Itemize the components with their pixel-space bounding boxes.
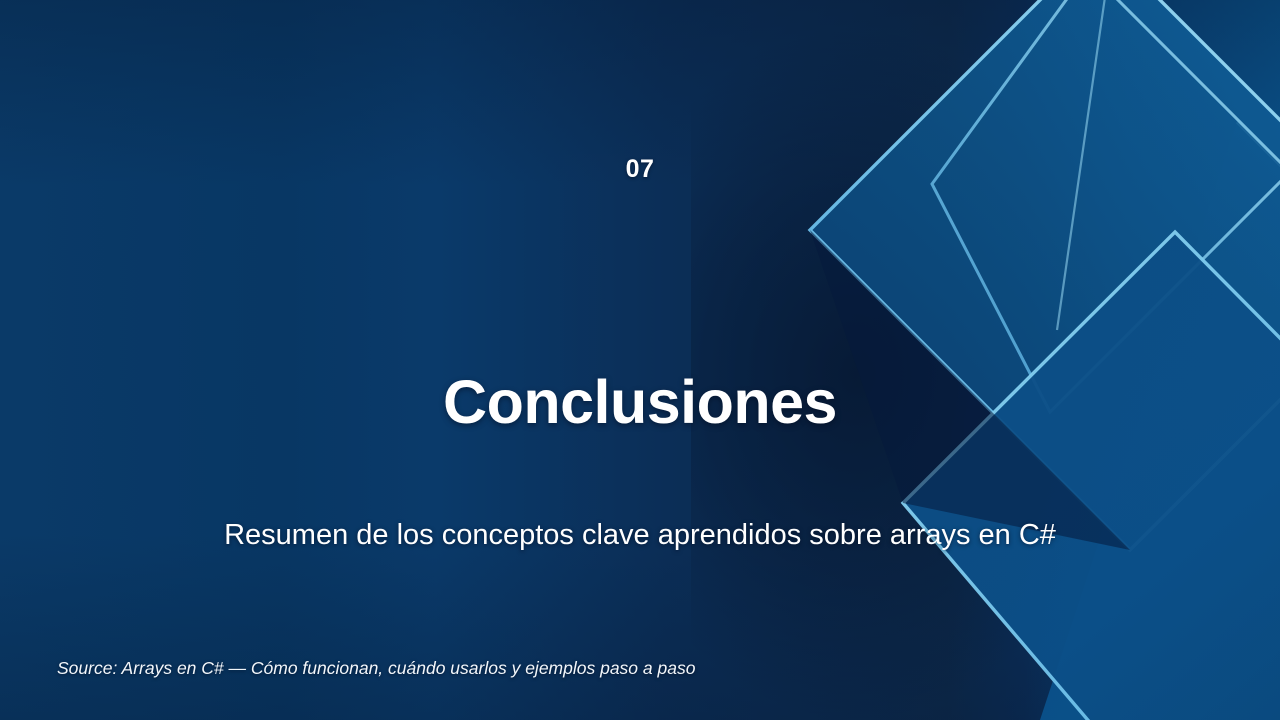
- slide-subtitle: Resumen de los conceptos clave aprendido…: [190, 516, 1090, 555]
- source-attribution: Source: Arrays en C# — Cómo funcionan, c…: [57, 658, 695, 679]
- section-number: 07: [0, 155, 1280, 184]
- slide-content: 07 Conclusiones Resumen de los conceptos…: [0, 0, 1280, 720]
- page-title: Conclusiones: [0, 368, 1280, 436]
- presentation-slide: 07 Conclusiones Resumen de los conceptos…: [0, 0, 1280, 720]
